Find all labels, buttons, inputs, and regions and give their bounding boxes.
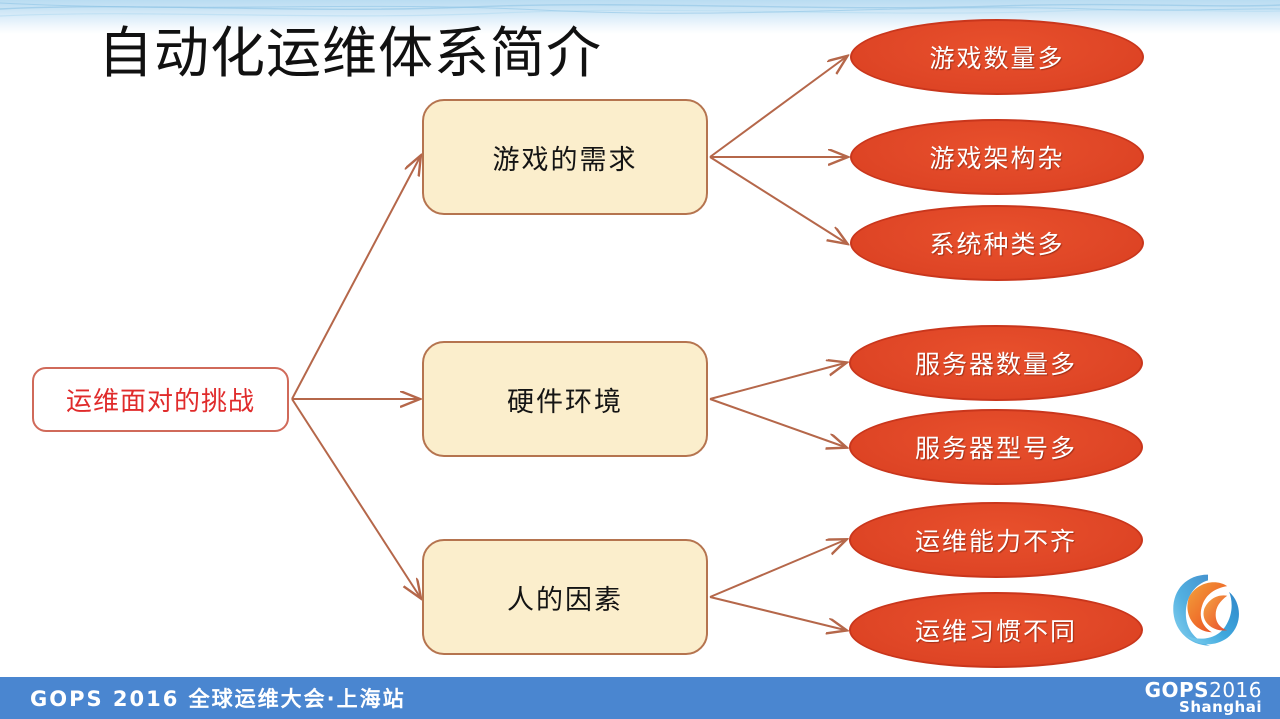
branch-node-label: 硬件环境 xyxy=(507,380,623,419)
leaf-node-label: 游戏架构杂 xyxy=(929,139,1064,175)
page-title: 自动化运维体系简介 xyxy=(98,22,602,85)
footer-logo-sub: Shanghai xyxy=(1145,701,1262,716)
branch-node-label: 人的因素 xyxy=(507,578,623,617)
branch-node-hardware-environment[interactable]: 硬件环境 xyxy=(422,341,708,457)
edge-branch-1-leaf-1 xyxy=(710,399,845,447)
leaf-node-label: 系统种类多 xyxy=(929,225,1064,261)
leaf-node-label: 服务器型号多 xyxy=(915,429,1077,465)
leaf-node-label: 服务器数量多 xyxy=(915,345,1077,381)
leaf-node[interactable]: 服务器数量多 xyxy=(849,325,1143,401)
leaf-node[interactable]: 运维能力不齐 xyxy=(849,502,1143,578)
edge-branch-0-leaf-2 xyxy=(710,157,846,243)
footer-bar: GOPS 2016 全球运维大会·上海站 GOPS2016 Shanghai xyxy=(0,677,1280,719)
presentation-slide: 自动化运维体系简介 运维面对的挑战 游戏的 xyxy=(0,0,1280,719)
leaf-node-label: 运维习惯不同 xyxy=(915,612,1077,648)
leaf-node[interactable]: 系统种类多 xyxy=(850,205,1144,281)
leaf-node-label: 游戏数量多 xyxy=(929,39,1064,75)
branch-node-human-factors[interactable]: 人的因素 xyxy=(422,539,708,655)
edge-branch-0-leaf-0 xyxy=(710,57,846,157)
leaf-node[interactable]: 运维习惯不同 xyxy=(849,592,1143,668)
branch-node-game-requirements[interactable]: 游戏的需求 xyxy=(422,99,708,215)
gops-swirl-logo-icon xyxy=(1160,565,1256,661)
root-node-label: 运维面对的挑战 xyxy=(66,381,255,418)
edge-branch-2-leaf-0 xyxy=(710,540,845,597)
edge-branch-1-leaf-0 xyxy=(710,363,845,399)
footer-logo: GOPS2016 Shanghai xyxy=(1145,680,1262,716)
footer-conference-title: GOPS 2016 全球运维大会·上海站 xyxy=(30,683,406,713)
edge-branch-2-leaf-1 xyxy=(710,597,845,630)
leaf-node-label: 运维能力不齐 xyxy=(915,522,1077,558)
leaf-node[interactable]: 游戏架构杂 xyxy=(850,119,1144,195)
edge-root-to-branch-0 xyxy=(292,157,420,399)
leaf-node[interactable]: 服务器型号多 xyxy=(849,409,1143,485)
edge-root-to-branch-2 xyxy=(292,399,420,597)
branch-node-label: 游戏的需求 xyxy=(493,138,638,177)
root-node[interactable]: 运维面对的挑战 xyxy=(32,367,289,432)
leaf-node[interactable]: 游戏数量多 xyxy=(850,19,1144,95)
